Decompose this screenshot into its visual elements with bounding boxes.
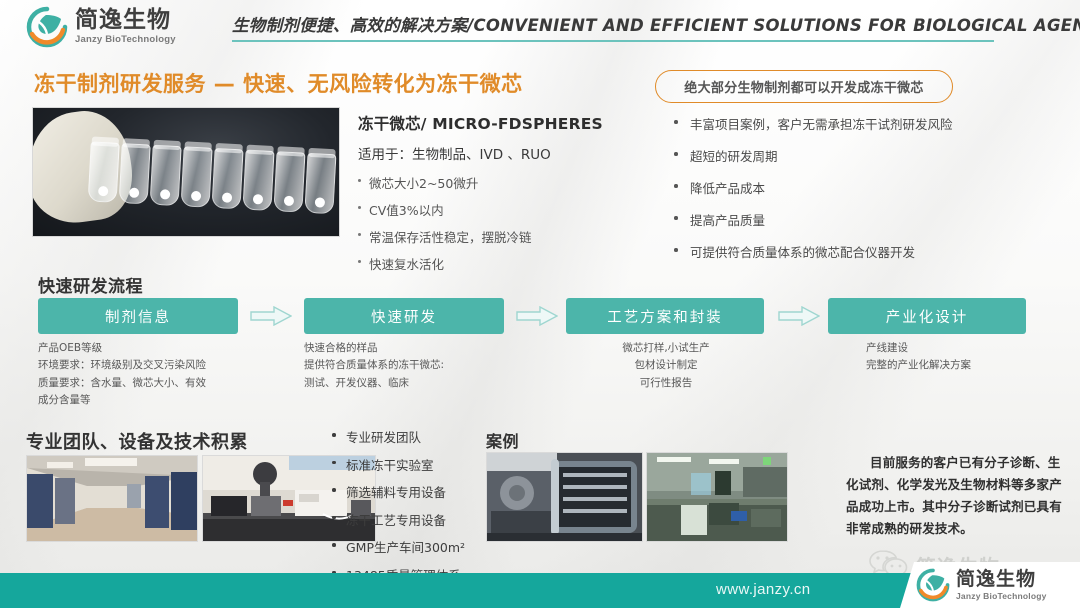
- list-item: 提高产品质量: [672, 210, 1072, 229]
- process-note-4: 产线建设 完整的产业化解决方案: [866, 340, 1066, 375]
- product-feature-list: 微芯大小2~50微升 CV值3%以内 常温保存活性稳定，摆脱冷链 快速复水活化: [358, 173, 658, 273]
- list-item: CV值3%以内: [358, 200, 658, 219]
- team-section-title: 专业团队、设备及技术积累: [26, 428, 248, 454]
- product-info-block: 冻干微芯/ MICRO-FDSPHERES 适用于：生物制品、IVD 、RUO …: [358, 112, 658, 281]
- brand-name-en: Janzy BioTechnology: [75, 35, 176, 45]
- page-title: 冻干制剂研发服务 — 快速、无风险转化为冻干微芯: [34, 68, 523, 98]
- process-note-3: 微芯打样,小试生产 包材设计制定 可行性报告: [566, 340, 766, 392]
- arrow-right-icon: [778, 306, 820, 326]
- freeze-dryer-photo: [486, 452, 643, 542]
- process-note-1: 产品OEB等级 环境要求：环境级别及交叉污染风险 质量要求：含水量、微芯大小、有…: [38, 340, 258, 409]
- list-item: 标准冻干实验室: [330, 455, 465, 474]
- list-item: 快速复水活化: [358, 254, 658, 273]
- process-step-3: 工艺方案和封装: [566, 298, 764, 334]
- list-item: 超短的研发周期: [672, 146, 1072, 165]
- list-item: 丰富项目案例，客户无需承担冻干试剂研发风险: [672, 114, 1072, 133]
- janzy-leaf-logo-icon: [26, 6, 68, 48]
- arrow-right-icon: [250, 306, 292, 326]
- brand-name-cn: 简逸生物: [75, 9, 176, 32]
- highlight-pill: 绝大部分生物制剂都可以开发成冻干微芯: [655, 70, 953, 103]
- product-subheading: 适用于：生物制品、IVD 、RUO: [358, 143, 658, 163]
- list-item: 筛选辅料专用设备: [330, 482, 465, 501]
- arrow-right-icon: [516, 306, 558, 326]
- list-item: GMP生产车间300m²: [330, 537, 465, 556]
- list-item: 可提供符合质量体系的微芯配合仪器开发: [672, 242, 1072, 261]
- benefits-list: 丰富项目案例，客户无需承担冻干试剂研发风险 超短的研发周期 降低产品成本 提高产…: [672, 114, 1072, 274]
- process-step-label: 产业化设计: [886, 306, 969, 327]
- list-item: 降低产品成本: [672, 178, 1072, 197]
- header-tagline-text: 生物制剂便捷、高效的解决方案/CONVENIENT AND EFFICIENT …: [232, 12, 1007, 36]
- list-item: 常温保存活性稳定，摆脱冷链: [358, 227, 658, 246]
- list-item: 专业研发团队: [330, 427, 465, 446]
- janzy-leaf-logo-icon: [916, 568, 950, 602]
- process-section-title: 快速研发流程: [38, 272, 143, 297]
- cases-section-title: 案例: [486, 428, 519, 452]
- list-item: 微芯大小2~50微升: [358, 173, 658, 192]
- pcr-tube-strip: [88, 141, 340, 216]
- brand-logo: 简逸生物 Janzy BioTechnology: [26, 6, 176, 48]
- list-item: 冻干工艺专用设备: [330, 510, 465, 529]
- slide-header: 简逸生物 Janzy BioTechnology 生物制剂便捷、高效的解决方案/…: [0, 0, 1080, 56]
- process-note-2: 快速合格的样品 提供符合质量体系的冻干微芯: 测试、开发仪器、临床: [304, 340, 534, 392]
- process-flow: 制剂信息 快速研发 工艺方案和封装 产业化设计: [38, 298, 1048, 334]
- footer-website-url[interactable]: www.janzy.cn: [716, 581, 811, 598]
- lab-corridor-photo: [26, 455, 198, 542]
- process-step-label: 制剂信息: [105, 306, 171, 327]
- product-heading: 冻干微芯/ MICRO-FDSPHERES: [358, 112, 658, 134]
- process-step-label: 工艺方案和封装: [607, 306, 723, 327]
- slide-canvas: 简逸生物 Janzy BioTechnology 生物制剂便捷、高效的解决方案/…: [0, 0, 1080, 608]
- footer-brand-logo: 简逸生物 Janzy BioTechnology: [900, 562, 1080, 608]
- footer-brand-name-en: Janzy BioTechnology: [956, 592, 1047, 601]
- highlight-pill-label: 绝大部分生物制剂都可以开发成冻干微芯: [684, 77, 923, 96]
- production-line-photo: [646, 452, 788, 542]
- header-tagline: 生物制剂便捷、高效的解决方案/CONVENIENT AND EFFICIENT …: [232, 12, 1007, 36]
- micro-spheres-photo: [32, 107, 340, 237]
- footer-brand-name-cn: 简逸生物: [956, 570, 1047, 589]
- process-step-4: 产业化设计: [828, 298, 1026, 334]
- process-step-label: 快速研发: [371, 306, 437, 327]
- process-step-1: 制剂信息: [38, 298, 238, 334]
- header-divider: [232, 40, 994, 42]
- cases-paragraph: 目前服务的客户已有分子诊断、生化试剂、化学发光及生物材料等多家产品成功上市。其中…: [846, 452, 1064, 540]
- process-step-2: 快速研发: [304, 298, 504, 334]
